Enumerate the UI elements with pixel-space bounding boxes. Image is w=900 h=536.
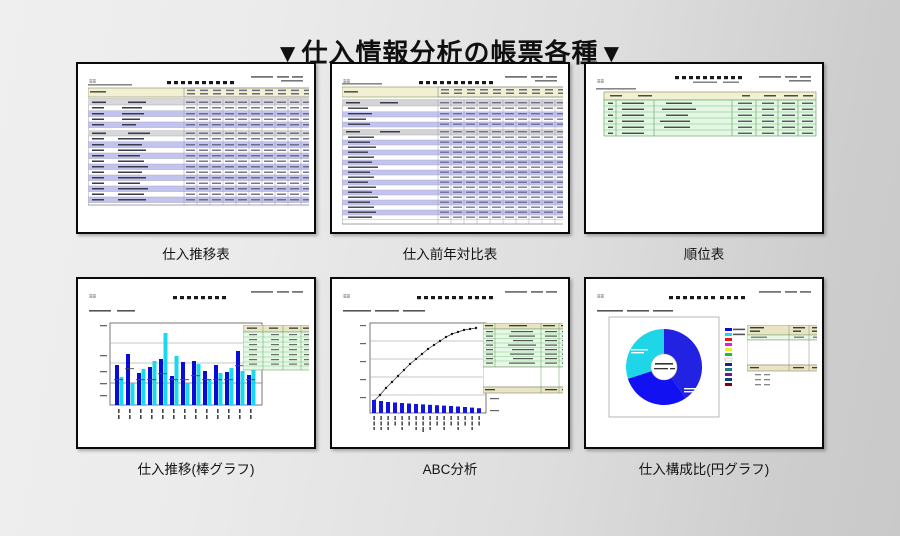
report-meta xyxy=(251,287,303,305)
report-thumbnail-ranking-table[interactable]: ≡≡ xyxy=(584,62,824,234)
report-caption-abc-analysis: ABC分析 xyxy=(330,449,570,478)
bar-chart-data-table xyxy=(243,325,309,377)
report-header: ≡≡ xyxy=(597,72,811,85)
report-header: ≡≡ xyxy=(343,287,557,300)
report-caption-ranking-table: 順位表 xyxy=(584,234,824,263)
report-header: ≡≡ xyxy=(597,287,811,300)
report-page: ≡≡ xyxy=(591,283,817,442)
report-card-ranking-table[interactable]: ≡≡ xyxy=(584,62,824,263)
pie-data-table xyxy=(747,325,817,377)
report-meta xyxy=(505,287,557,305)
report-meta xyxy=(759,287,811,305)
report-caption-purchase-trend-table: 仕入推移表 xyxy=(76,234,316,263)
page-title: ▼仕入情報分析の帳票各種▼ xyxy=(0,0,900,62)
thumbnail-row-bottom: ≡≡ xyxy=(0,277,900,478)
report-page: ≡≡ xyxy=(337,283,563,442)
pareto-data-table xyxy=(483,323,563,401)
report-card-purchase-yoy-table[interactable]: ≡≡ xyxy=(330,62,570,263)
report-card-purchase-composition-pie[interactable]: ≡≡ xyxy=(584,277,824,478)
report-page: ≡≡ xyxy=(591,68,817,227)
report-page: ≡≡ xyxy=(83,68,309,227)
report-thumbnail-purchase-yoy-table[interactable]: ≡≡ xyxy=(330,62,570,234)
report-header: ≡≡ xyxy=(89,287,303,300)
report-thumbnail-grid: ≡≡ xyxy=(0,62,900,478)
report-thumbnail-purchase-trend-table[interactable]: ≡≡ xyxy=(76,62,316,234)
thumbnail-row-top: ≡≡ xyxy=(0,62,900,263)
report-caption-purchase-trend-bar: 仕入推移(棒グラフ) xyxy=(76,449,316,478)
report-thumbnail-purchase-composition-pie[interactable]: ≡≡ xyxy=(584,277,824,449)
report-page: ≡≡ xyxy=(83,283,309,442)
report-card-abc-analysis[interactable]: ≡≡ xyxy=(330,277,570,478)
pie-chart-legend xyxy=(725,328,745,386)
report-card-purchase-trend-bar[interactable]: ≡≡ xyxy=(76,277,316,478)
report-caption-purchase-composition-pie: 仕入構成比(円グラフ) xyxy=(584,449,824,478)
report-card-purchase-trend-table[interactable]: ≡≡ xyxy=(76,62,316,263)
report-thumbnail-abc-analysis[interactable]: ≡≡ xyxy=(330,277,570,449)
report-thumbnail-purchase-trend-bar[interactable]: ≡≡ xyxy=(76,277,316,449)
report-caption-purchase-yoy-table: 仕入前年対比表 xyxy=(330,234,570,263)
report-page: ≡≡ xyxy=(337,68,563,227)
